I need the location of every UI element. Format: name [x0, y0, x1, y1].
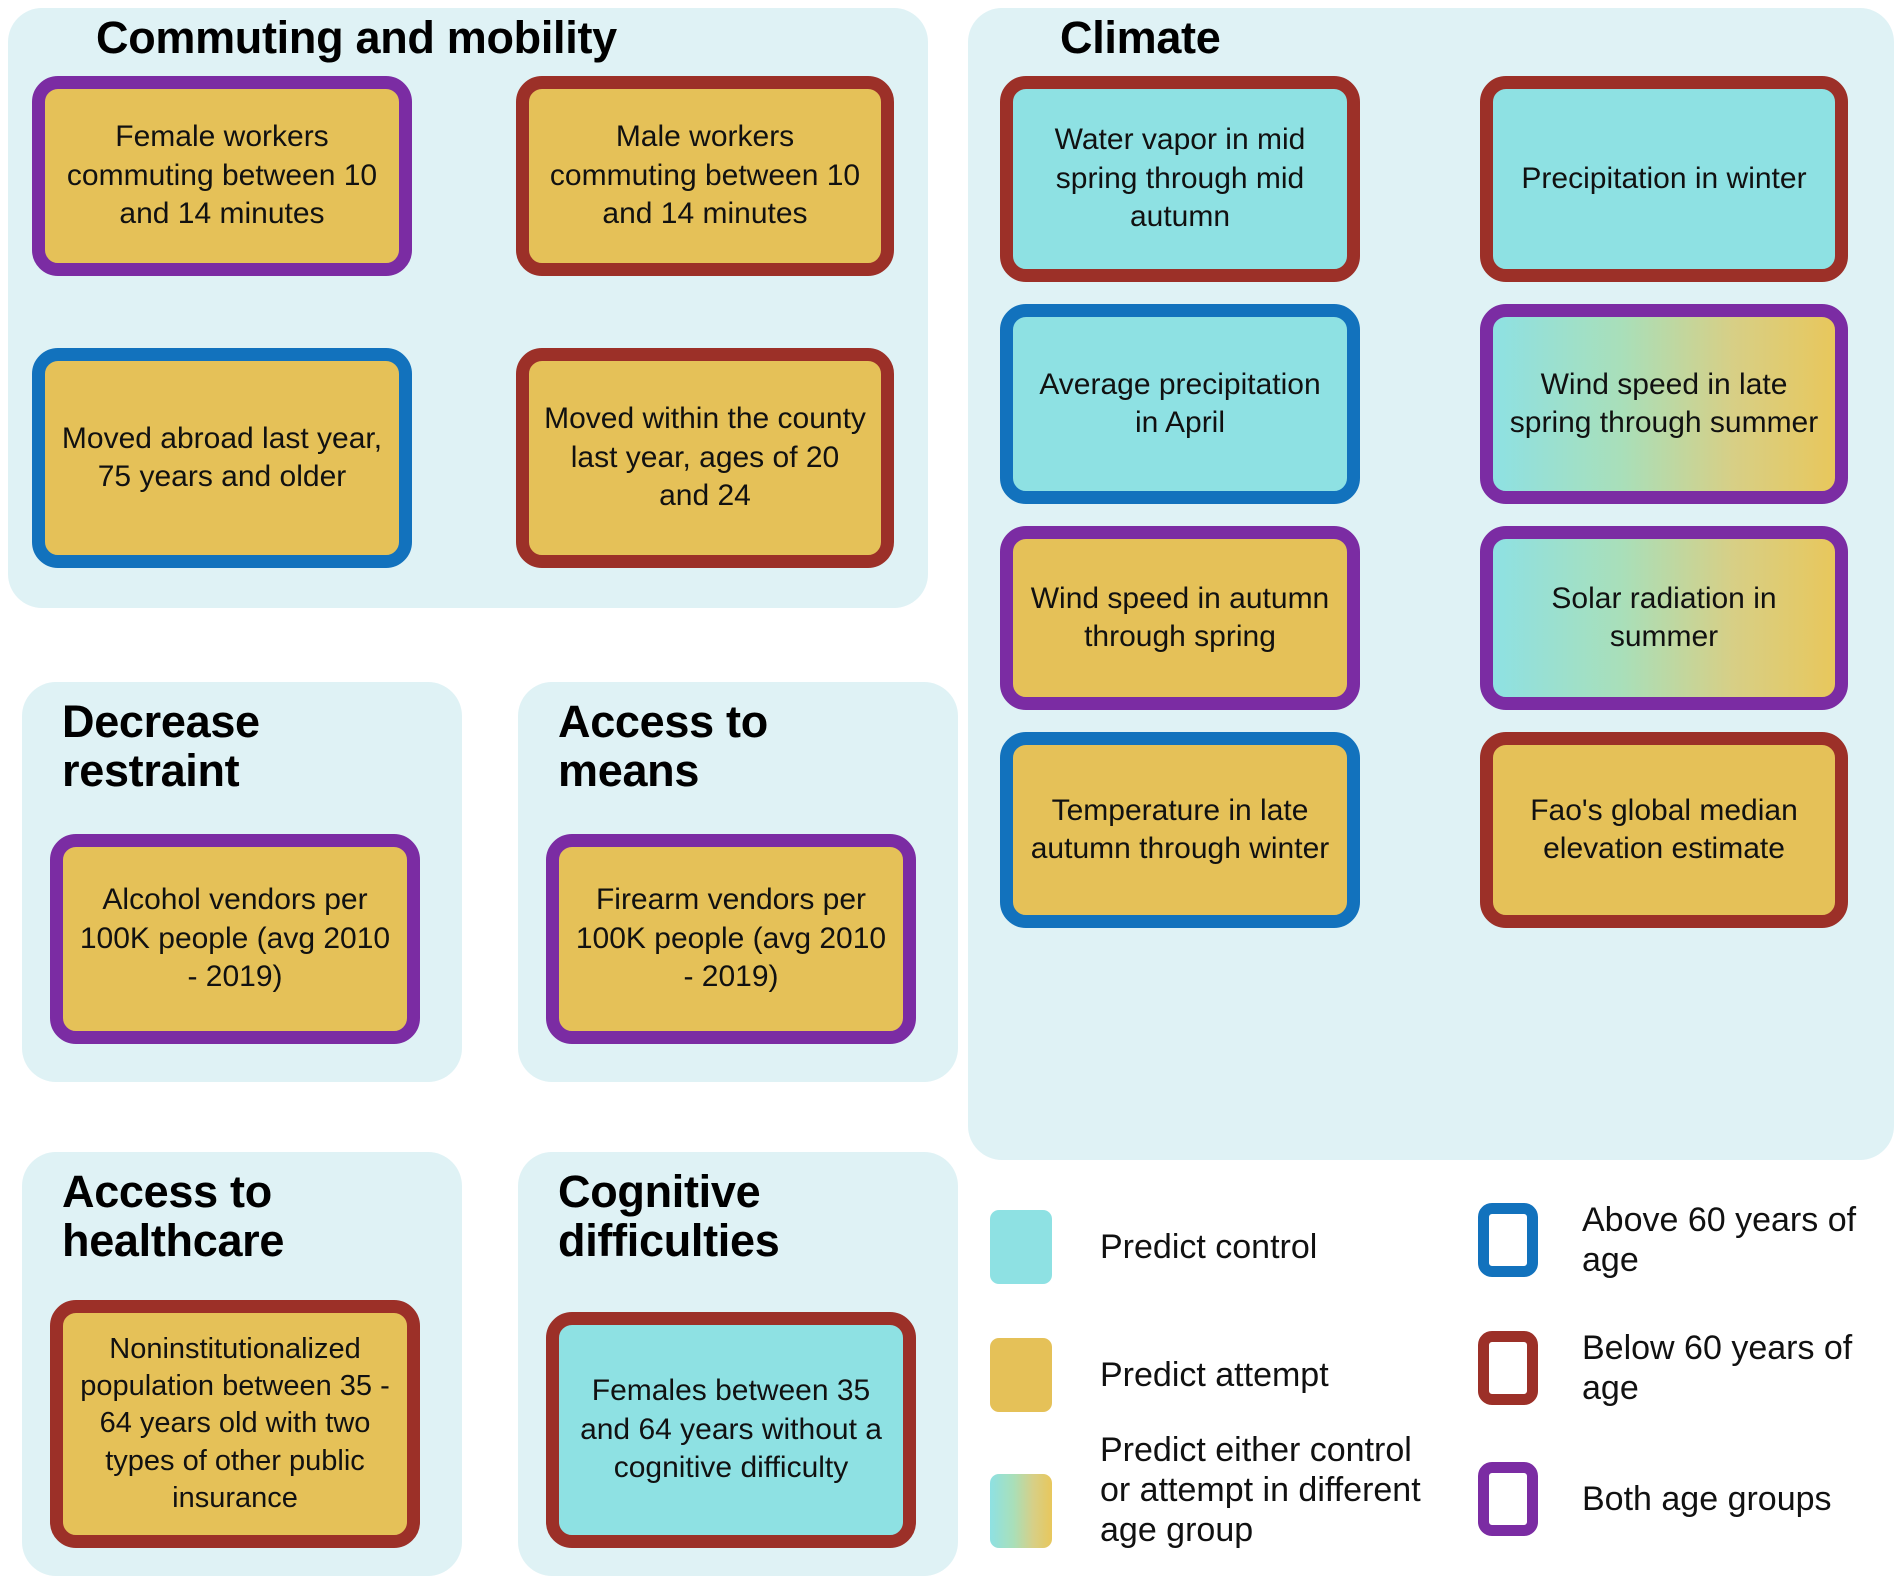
group-panel-commuting-and-mobility: Commuting and mobility Female workers co…	[8, 8, 928, 608]
variable-card-label: Fao's global median elevation estimate	[1507, 792, 1821, 869]
variable-card-label: Moved abroad last year, 75 years and old…	[59, 420, 385, 497]
variable-card-label: Firearm vendors per 100K people (avg 201…	[573, 881, 889, 996]
variable-card-label: Solar radiation in summer	[1507, 580, 1821, 657]
group-title-commuting-and-mobility: Commuting and mobility	[96, 14, 896, 63]
swatch-predict-attempt	[990, 1338, 1052, 1412]
group-panel-cognitive-difficulties: Cognitive difficulties Females between 3…	[518, 1152, 958, 1576]
legend-label-predict-control: Predict control	[1100, 1227, 1317, 1267]
variable-card[interactable]: Noninstitutionalized population between …	[50, 1300, 420, 1548]
swatch-below-60-years	[1478, 1331, 1538, 1405]
legend-label-both-ages: Both age groups	[1582, 1479, 1898, 1519]
group-panel-climate: Climate Water vapor in mid spring throug…	[968, 8, 1894, 1160]
variable-card[interactable]: Wind speed in late spring through summer	[1480, 304, 1848, 504]
variable-card[interactable]: Females between 35 and 64 years without …	[546, 1312, 916, 1548]
variable-card-label: Wind speed in autumn through spring	[1027, 580, 1333, 657]
legend-item-both-ages: Both age groups	[1478, 1462, 1898, 1536]
variable-card-label: Average precipitation in April	[1027, 366, 1333, 443]
variable-card[interactable]: Water vapor in mid spring through mid au…	[1000, 76, 1360, 282]
group-title-cognitive-difficulties: Cognitive difficulties	[558, 1168, 918, 1265]
group-title-access-to-healthcare: Access to healthcare	[62, 1168, 402, 1265]
variable-card[interactable]: Female workers commuting between 10 and …	[32, 76, 412, 276]
variable-card[interactable]: Precipitation in winter	[1480, 76, 1848, 282]
legend: Predict control Predict attempt Predict …	[968, 1200, 1898, 1580]
variable-card[interactable]: Temperature in late autumn through winte…	[1000, 732, 1360, 928]
variable-card[interactable]: Average precipitation in April	[1000, 304, 1360, 504]
group-title-decrease-restraint: Decrease restraint	[62, 698, 392, 795]
swatch-predict-control	[990, 1210, 1052, 1284]
variable-card-label: Moved within the county last year, ages …	[543, 400, 867, 515]
variable-card-label: Male workers commuting between 10 and 14…	[543, 118, 867, 233]
variable-card[interactable]: Moved abroad last year, 75 years and old…	[32, 348, 412, 568]
variable-card-label: Female workers commuting between 10 and …	[59, 118, 385, 233]
variable-card-label: Noninstitutionalized population between …	[77, 1331, 393, 1517]
variable-card[interactable]: Solar radiation in summer	[1480, 526, 1848, 710]
swatch-above-60-years	[1478, 1203, 1538, 1277]
legend-label-below-60: Below 60 years of age	[1582, 1328, 1862, 1408]
variable-card-label: Wind speed in late spring through summer	[1507, 366, 1821, 443]
legend-item-predict-control: Predict control	[990, 1210, 1410, 1284]
variable-card[interactable]: Wind speed in autumn through spring	[1000, 526, 1360, 710]
group-panel-access-to-healthcare: Access to healthcare Noninstitutionalize…	[22, 1152, 462, 1576]
legend-item-above-60: Above 60 years of age	[1478, 1200, 1898, 1280]
variable-card[interactable]: Fao's global median elevation estimate	[1480, 732, 1848, 928]
group-title-access-to-means: Access to means	[558, 698, 888, 795]
figure-root: Commuting and mobility Female workers co…	[0, 0, 1902, 1583]
legend-label-predict-either: Predict either control or attempt in dif…	[1100, 1430, 1430, 1550]
variable-card[interactable]: Moved within the county last year, ages …	[516, 348, 894, 568]
variable-card-label: Females between 35 and 64 years without …	[573, 1372, 889, 1487]
variable-card[interactable]: Firearm vendors per 100K people (avg 201…	[546, 834, 916, 1044]
group-panel-decrease-restraint: Decrease restraint Alcohol vendors per 1…	[22, 682, 462, 1082]
group-title-climate: Climate	[1060, 14, 1660, 63]
legend-item-predict-either: Predict either control or attempt in dif…	[990, 1430, 1430, 1550]
variable-card[interactable]: Alcohol vendors per 100K people (avg 201…	[50, 834, 420, 1044]
variable-card-label: Temperature in late autumn through winte…	[1027, 792, 1333, 869]
group-panel-access-to-means: Access to means Firearm vendors per 100K…	[518, 682, 958, 1082]
legend-label-predict-attempt: Predict attempt	[1100, 1355, 1329, 1395]
legend-label-above-60: Above 60 years of age	[1582, 1200, 1882, 1280]
variable-card[interactable]: Male workers commuting between 10 and 14…	[516, 76, 894, 276]
variable-card-label: Precipitation in winter	[1507, 160, 1821, 198]
variable-card-label: Alcohol vendors per 100K people (avg 201…	[77, 881, 393, 996]
swatch-predict-either	[990, 1474, 1052, 1548]
legend-item-below-60: Below 60 years of age	[1478, 1328, 1898, 1408]
swatch-both-age-groups	[1478, 1462, 1538, 1536]
variable-card-label: Water vapor in mid spring through mid au…	[1027, 121, 1333, 236]
legend-item-predict-attempt: Predict attempt	[990, 1338, 1410, 1412]
